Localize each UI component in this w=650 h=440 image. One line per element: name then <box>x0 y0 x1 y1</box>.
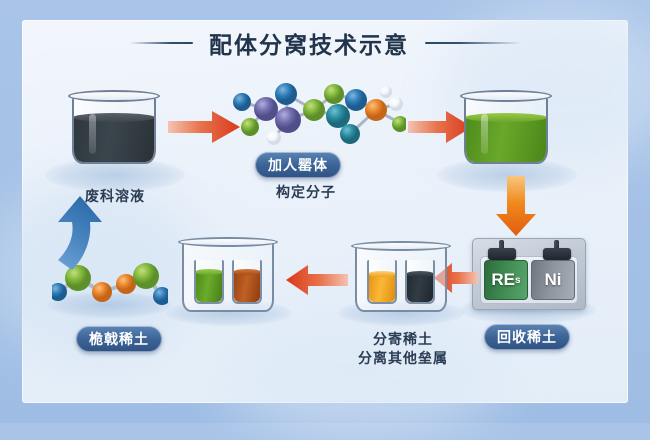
ligand-molecule <box>228 82 406 148</box>
recover-rare-earth-badge[interactable]: 回收稀土 <box>484 324 570 350</box>
electrode-rare-earth: REs <box>484 260 528 300</box>
precipitate-tubeset <box>182 242 274 312</box>
electrode-ni-label: Ni <box>545 270 562 290</box>
arrow-complex-to-cell <box>494 176 538 238</box>
electrode-clamp-left <box>488 248 516 260</box>
beaker-rim <box>68 90 160 102</box>
tube-fill-surface <box>368 271 396 277</box>
complex-solution-beaker <box>464 96 548 164</box>
waste-solution-beaker <box>72 96 156 164</box>
electrode-re-sub: s <box>515 275 521 286</box>
electrode-clamp-right <box>543 248 571 260</box>
beaker-liquid-surface <box>465 113 547 122</box>
tubeset-outer-rim <box>351 241 451 251</box>
tube-fill-surface <box>406 271 434 277</box>
arrow-separation-to-precipitate <box>286 264 348 296</box>
title-rule-right <box>425 42 521 44</box>
beaker-liquid-surface <box>73 113 155 122</box>
separation-tubeset <box>355 246 447 312</box>
electro-cell: REs Ni <box>472 238 586 310</box>
regenerate-badge[interactable]: 桅戟稀土 <box>76 326 162 352</box>
title-rule-left <box>129 42 193 44</box>
tube-fill-brown <box>234 272 260 302</box>
infographic-root: 配体分窝技术示意 废科溶液 <box>0 0 650 423</box>
beaker-highlight <box>89 114 96 154</box>
beaker-highlight <box>481 114 488 154</box>
ligand-badge[interactable]: 加人罂体 <box>255 152 341 178</box>
separation-caption-line1: 分寄稀土 <box>330 330 476 349</box>
tube-fill-surface <box>233 269 261 275</box>
separation-caption-line2: 分离其他垒属 <box>330 349 476 368</box>
electrode-re-label: RE <box>491 270 515 290</box>
tube-fill-dark <box>407 274 433 302</box>
separation-caption: 分寄稀土 分离其他垒属 <box>330 330 476 368</box>
beaker-liquid-dark <box>74 118 154 162</box>
tube-fill-orange <box>369 274 395 302</box>
beaker-glass <box>464 96 548 164</box>
precipitate-tube-left <box>194 260 224 304</box>
separation-tube-left <box>367 260 397 304</box>
electrode-nickel: Ni <box>531 260 575 300</box>
tube-fill-surface <box>195 269 223 275</box>
ligand-caption: 构定分子 <box>252 182 360 202</box>
arrow-precipitate-to-waste <box>54 196 106 272</box>
beaker-liquid-green <box>466 118 546 162</box>
beaker-rim <box>460 90 552 102</box>
page-title: 配体分窝技术示意 <box>209 26 409 60</box>
beaker-glass <box>72 96 156 164</box>
separation-tube-right <box>405 260 435 304</box>
title-bar: 配体分窝技术示意 <box>0 26 650 60</box>
tube-fill-green <box>196 272 222 302</box>
precipitate-tube-right <box>232 260 262 304</box>
tubeset-outer-rim <box>178 237 278 247</box>
